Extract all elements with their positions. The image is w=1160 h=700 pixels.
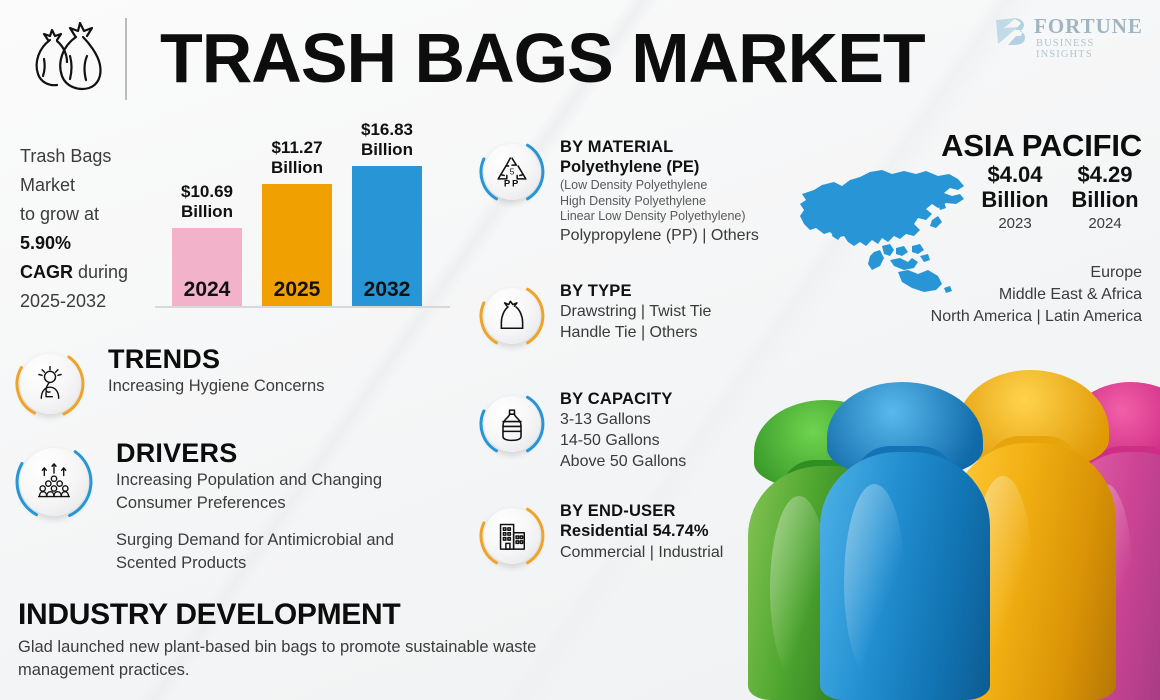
segment-subline: Linear Low Density Polyethylene) — [560, 209, 790, 225]
bar-year-2024: 2024 — [172, 278, 242, 302]
brand-tagline: BUSINESS INSIGHTS — [1036, 38, 1144, 60]
cagr-line-3: to grow at — [20, 200, 170, 229]
segment-title: BY TYPE — [560, 282, 790, 301]
recycle-pp-icon-circle: 5 PP — [478, 138, 546, 206]
cagr-during: during — [73, 262, 128, 282]
market-size-bar-chart: $10.69 Billion 2024 $11.27 Billion 2025 … — [150, 128, 450, 308]
page-title: TRASH BAGS MARKET — [160, 16, 925, 100]
segment-line: Polypropylene (PP) | Others — [560, 225, 790, 246]
trash-bag-icon-circle — [478, 282, 546, 350]
other-region-item: Europe — [822, 262, 1142, 284]
segment-line: Drawstring | Twist Tie — [560, 301, 790, 322]
other-regions-list: EuropeMiddle East & AfricaNorth America … — [822, 262, 1142, 328]
bar-column-2032: $16.83 Billion 2032 — [352, 166, 422, 306]
segment-title: BY MATERIAL — [560, 138, 790, 157]
building-icon-circle — [478, 502, 546, 570]
bar-value-2032: $16.83 — [361, 120, 413, 139]
brand-logo: FORTUNE BUSINESS INSIGHTS — [994, 14, 1144, 56]
bar-unit-2032: Billion — [361, 140, 413, 159]
other-region-item: North America | Latin America — [822, 306, 1142, 328]
blue-bag — [820, 382, 990, 700]
other-region-item: Middle East & Africa — [822, 284, 1142, 306]
trash-bag-icon — [478, 282, 546, 350]
bar-value-2024: $10.69 — [181, 182, 233, 201]
trash-bags-icon — [28, 22, 106, 94]
person-hygiene-icon — [14, 348, 86, 420]
cagr-label: CAGR — [20, 262, 73, 282]
cagr-line-2: Market — [20, 171, 170, 200]
bar-value-label-2024: $10.69 Billion — [160, 182, 254, 222]
industry-development-title: INDUSTRY DEVELOPMENT — [18, 598, 578, 632]
population-growth-icon — [14, 442, 94, 522]
trash-bags-photo — [742, 340, 1160, 700]
segment-subline: High Density Polyethylene — [560, 194, 790, 210]
header: TRASH BAGS MARKET FORTUNE BUSINESS INSIG… — [0, 0, 1160, 118]
cagr-summary: Trash Bags Market to grow at 5.90% CAGR … — [20, 142, 170, 316]
bar-unit-2025: Billion — [271, 158, 323, 177]
region-figure-2024: $4.29Billion 2024 — [1050, 162, 1160, 232]
left-block-trends: TRENDS Increasing Hygiene Concerns — [14, 344, 444, 398]
bar-value-label-2032: $16.83 Billion — [340, 120, 434, 160]
left-block-line: Increasing Hygiene Concerns — [108, 375, 444, 398]
water-jug-icon — [478, 390, 546, 458]
bar-column-2025: $11.27 Billion 2025 — [262, 184, 332, 306]
industry-development: INDUSTRY DEVELOPMENT Glad launched new p… — [18, 598, 578, 682]
building-icon — [478, 502, 546, 570]
left-block-title: DRIVERS — [116, 438, 444, 469]
bar-value-2025: $11.27 — [271, 138, 322, 157]
region-title: ASIA PACIFIC — [941, 128, 1142, 164]
water-jug-icon-circle — [478, 390, 546, 458]
left-block-title: TRENDS — [108, 344, 444, 375]
left-block-drivers: DRIVERS Increasing Population and Changi… — [14, 438, 444, 575]
left-block-line: Increasing Population and Changing Consu… — [116, 469, 444, 515]
segment-bold-line: Polyethylene (PE) — [560, 157, 790, 178]
bar-value-label-2025: $11.27 Billion — [250, 138, 344, 178]
fb-monogram-icon — [994, 16, 1028, 46]
bar-year-2032: 2032 — [352, 278, 422, 302]
left-block-line: Surging Demand for Antimicrobial and Sce… — [116, 529, 444, 575]
population-growth-icon-circle — [14, 442, 94, 522]
cagr-rate: 5.90% — [20, 233, 71, 253]
recycle-pp-icon: 5 PP — [478, 138, 546, 206]
person-hygiene-icon-circle — [14, 348, 86, 420]
brand-name: FORTUNE — [1034, 14, 1143, 39]
region-figure-year: 2024 — [1050, 215, 1160, 232]
svg-text:PP: PP — [504, 179, 520, 190]
bar-year-2025: 2025 — [262, 278, 332, 302]
bar-column-2024: $10.69 Billion 2024 — [172, 228, 242, 306]
industry-development-text: Glad launched new plant-based bin bags t… — [18, 636, 578, 682]
chart-baseline — [155, 306, 450, 308]
header-divider — [125, 18, 127, 100]
cagr-period: 2025-2032 — [20, 287, 170, 316]
segment-subline: (Low Density Polyethylene — [560, 178, 790, 194]
region-figure-value: $4.29Billion — [1050, 162, 1160, 212]
bar-unit-2024: Billion — [181, 202, 233, 221]
cagr-line-1: Trash Bags — [20, 142, 170, 171]
infographic-page: TRASH BAGS MARKET FORTUNE BUSINESS INSIG… — [0, 0, 1160, 700]
svg-text:5: 5 — [510, 167, 515, 177]
